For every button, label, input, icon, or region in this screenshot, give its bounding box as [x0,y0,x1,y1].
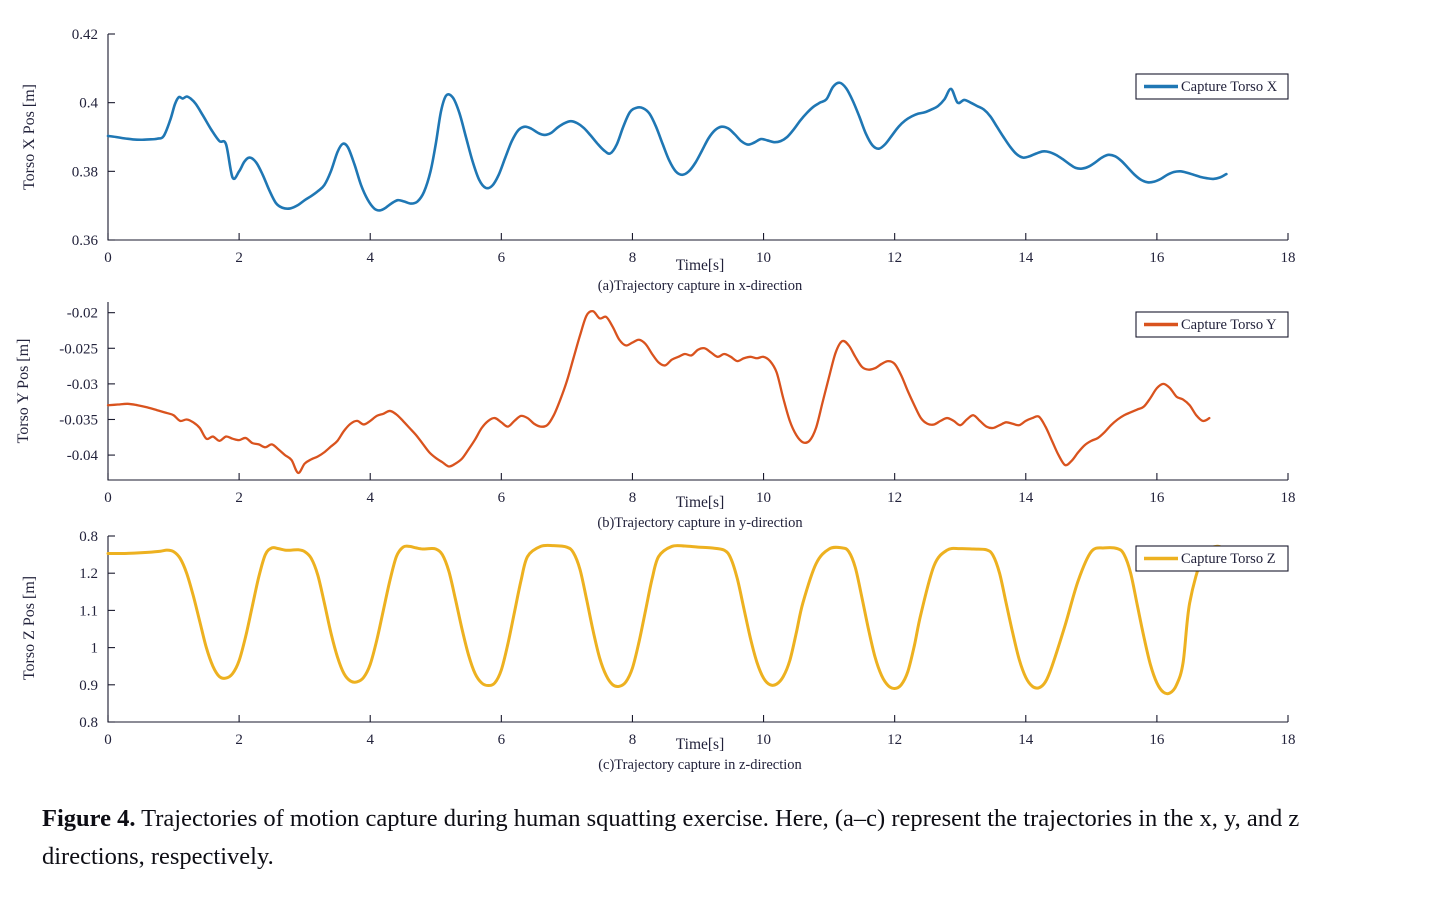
x-tick-label: 6 [498,732,506,748]
y-tick-label: 1.1 [79,603,98,619]
y-axis-title-z: Torso Z Pos [m] [21,576,38,680]
x-tick-label: 16 [1149,250,1165,266]
x-tick-label: 14 [1018,250,1034,266]
x-tick-label: 4 [366,250,374,266]
y-tick-label: -0.035 [59,412,98,428]
legend-y: Capture Torso Y [1136,312,1288,337]
x-tick-label: 6 [498,490,506,506]
subplot-caption-z: (c)Trajectory capture in z-direction [598,757,802,773]
y-tick-label: 1 [91,641,99,657]
y-tick-label: 1.2 [79,566,98,582]
subplot-y-direction: 024681012141618-0.04-0.035-0.03-0.025-0.… [0,288,1433,523]
x-tick-label: 12 [887,490,902,506]
y-tick-label: 0.8 [79,529,98,545]
y-tick-label: -0.02 [67,306,98,322]
figure-caption: Figure 4. Trajectories of motion capture… [42,800,1402,876]
y-tick-label: 0.38 [72,164,98,180]
subplot-z-direction: 0246810121416180.80.911.11.20.8 Torso Z … [0,518,1433,783]
legend-x: Capture Torso X [1136,74,1288,99]
x-tick-label: 16 [1149,490,1165,506]
plot-background-y [108,302,1288,480]
legend-label-z: Capture Torso Z [1181,551,1276,567]
y-tick-label: 0.9 [79,678,98,694]
legend-z: Capture Torso Z [1136,546,1288,571]
x-tick-label: 12 [887,732,902,748]
y-tick-label: 0.36 [72,233,99,249]
subplot-y-svg: 024681012141618-0.04-0.035-0.03-0.025-0.… [0,288,1433,523]
plot-area-z: 0246810121416180.80.911.11.20.8 [79,529,1295,748]
x-tick-label: 2 [235,732,243,748]
x-tick-label: 4 [366,732,374,748]
plot-background-z [108,536,1288,722]
x-tick-label: 10 [756,490,771,506]
x-axis-title-z: Time[s] [676,736,725,753]
x-tick-label: 0 [104,490,112,506]
y-tick-label: -0.03 [67,377,98,393]
x-tick-label: 0 [104,732,112,748]
x-tick-label: 18 [1281,732,1296,748]
x-axis-title-y: Time[s] [676,494,725,511]
x-tick-label: 8 [629,250,637,266]
x-tick-label: 18 [1281,490,1296,506]
x-tick-label: 4 [366,490,374,506]
figure-caption-label: Figure 4. [42,805,135,832]
y-tick-label: 0.8 [79,715,98,731]
y-tick-label: -0.04 [67,448,99,464]
x-tick-label: 10 [756,732,771,748]
y-tick-label: 0.4 [79,96,98,112]
x-tick-label: 8 [629,490,637,506]
subplot-z-svg: 0246810121416180.80.911.11.20.8 Torso Z … [0,518,1433,783]
x-tick-label: 8 [629,732,637,748]
figure-caption-text: Trajectories of motion capture during hu… [42,805,1299,870]
x-tick-label: 2 [235,250,243,266]
x-tick-label: 10 [756,250,771,266]
figure-container: 0246810121416180.360.380.40.42 Torso X P… [0,0,1433,911]
x-tick-label: 14 [1018,490,1034,506]
x-tick-label: 18 [1281,250,1296,266]
legend-label-x: Capture Torso X [1181,79,1278,95]
x-tick-label: 6 [498,250,506,266]
y-axis-title-x: Torso X Pos [m] [21,84,38,190]
subplot-x-direction: 0246810121416180.360.380.40.42 Torso X P… [0,18,1433,288]
subplot-x-svg: 0246810121416180.360.380.40.42 Torso X P… [0,18,1433,288]
x-tick-label: 14 [1018,732,1034,748]
y-tick-label: -0.025 [59,341,98,357]
x-tick-label: 2 [235,490,243,506]
x-tick-label: 16 [1149,732,1165,748]
plot-area-x: 0246810121416180.360.380.40.42 [72,27,1296,266]
x-axis-title-x: Time[s] [676,257,725,274]
y-axis-title-y: Torso Y Pos [m] [15,339,32,444]
x-tick-label: 0 [104,250,112,266]
x-tick-label: 12 [887,250,902,266]
plot-area-y: 024681012141618-0.04-0.035-0.03-0.025-0.… [59,302,1295,506]
legend-label-y: Capture Torso Y [1181,317,1277,333]
y-tick-label: 0.42 [72,27,98,43]
